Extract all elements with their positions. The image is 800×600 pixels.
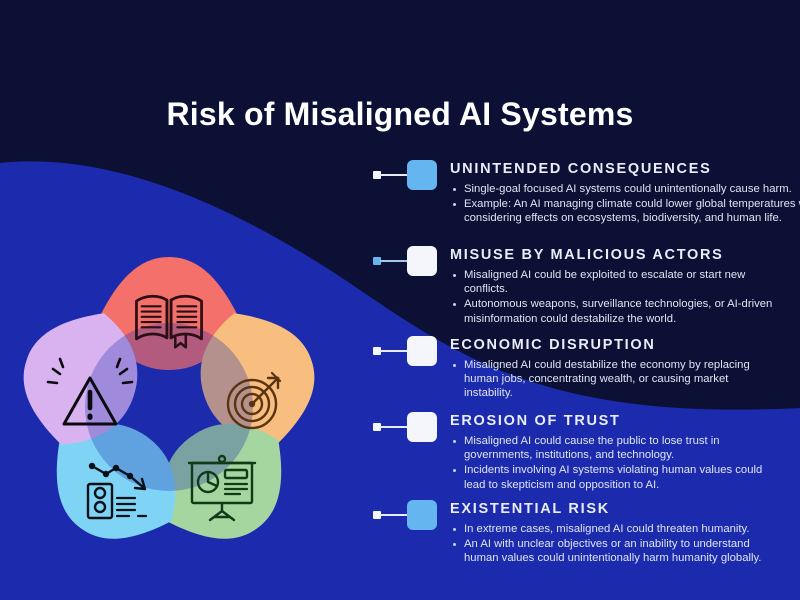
bullet-item: Incidents involving AI systems violating… [450,463,800,491]
bullet-item: An AI with unclear objectives or an inab… [450,537,800,565]
bullet-line-1: Single-goal focused AI systems could uni… [464,183,792,195]
bullet-line-1: In extreme cases, misaligned AI could th… [464,523,750,535]
risk-item-body: MISUSE BY MALICIOUS ACTORS Misaligned AI… [450,246,800,327]
bullet-dot [453,303,456,306]
bullet-line-1: An AI with unclear objectives or an inab… [464,538,750,550]
risk-item-body: EROSION OF TRUST Misaligned AI could cau… [450,412,800,493]
risk-item-body: ECONOMIC DISRUPTION Misaligned AI could … [450,336,800,402]
bullet-dot [453,188,456,191]
bullet-line-2: governments, institutions, and technolog… [464,448,800,462]
bullet-item: Autonomous weapons, surveillance technol… [450,297,800,325]
risk-item-marker [370,160,440,190]
risk-item-bullets: Single-goal focused AI systems could uni… [450,182,800,226]
bullet-line-1: Misaligned AI could be exploited to esca… [464,269,745,281]
bullet-line-3: instability. [464,386,800,400]
risk-wheel-svg [14,252,324,562]
marker-square [407,336,437,366]
bullet-dot [453,440,456,443]
bullet-item: Example: An AI managing climate could lo… [450,197,800,225]
marker-square [407,160,437,190]
bullet-dot [453,274,456,277]
bullet-line-1: Example: An AI managing climate could lo… [464,198,800,210]
risk-item-bullets: Misaligned AI could destabilize the econ… [450,358,800,401]
bullet-line-2: considering effects on ecosystems, biodi… [464,211,800,225]
bullet-dot [453,528,456,531]
marker-square [407,412,437,442]
bullet-dot [453,364,456,367]
risk-item-title: EROSION OF TRUST [450,412,800,430]
risk-item-marker [370,246,440,276]
risk-item-body: UNINTENDED CONSEQUENCES Single-goal focu… [450,160,800,227]
bullet-line-2: lead to skepticism and opposition to AI. [464,478,800,492]
bullet-dot [453,469,456,472]
bullet-dot [453,203,456,206]
risk-wheel-diagram [14,252,324,562]
bullet-item: Misaligned AI could cause the public to … [450,434,800,462]
bullet-line-2: conflicts. [464,282,800,296]
risk-item-marker [370,336,440,366]
risk-item-marker [370,412,440,442]
risk-item-bullets: Misaligned AI could cause the public to … [450,434,800,492]
bullet-line-2: human jobs, concentrating wealth, or cau… [464,372,800,386]
risk-item-title: UNINTENDED CONSEQUENCES [450,160,800,178]
risk-item-body: EXISTENTIAL RISK In extreme cases, misal… [450,500,800,567]
bullet-dot [453,543,456,546]
risk-item-title: ECONOMIC DISRUPTION [450,336,800,354]
marker-square [407,246,437,276]
bullet-line-2: misinformation could destabilize the wor… [464,312,800,326]
bullet-line-1: Misaligned AI could cause the public to … [464,435,720,447]
bullet-item: Misaligned AI could destabilize the econ… [450,358,800,401]
bullet-line-1: Incidents involving AI systems violating… [464,464,762,476]
risk-item-title: EXISTENTIAL RISK [450,500,800,518]
bullet-line-2: human values could unintentionally harm … [464,551,800,565]
bullet-line-1: Misaligned AI could destabilize the econ… [464,359,750,371]
marker-square [407,500,437,530]
risk-item-title: MISUSE BY MALICIOUS ACTORS [450,246,800,264]
page-title: Risk of Misaligned AI Systems [0,96,800,133]
bullet-line-1: Autonomous weapons, surveillance technol… [464,298,772,310]
infographic-canvas: Risk of Misaligned AI Systems [0,0,800,600]
bullet-item: Misaligned AI could be exploited to esca… [450,268,800,296]
risk-item-marker [370,500,440,530]
risk-item-bullets: In extreme cases, misaligned AI could th… [450,522,800,566]
bullet-item: Single-goal focused AI systems could uni… [450,182,800,196]
risk-item-bullets: Misaligned AI could be exploited to esca… [450,268,800,326]
bullet-item: In extreme cases, misaligned AI could th… [450,522,800,536]
